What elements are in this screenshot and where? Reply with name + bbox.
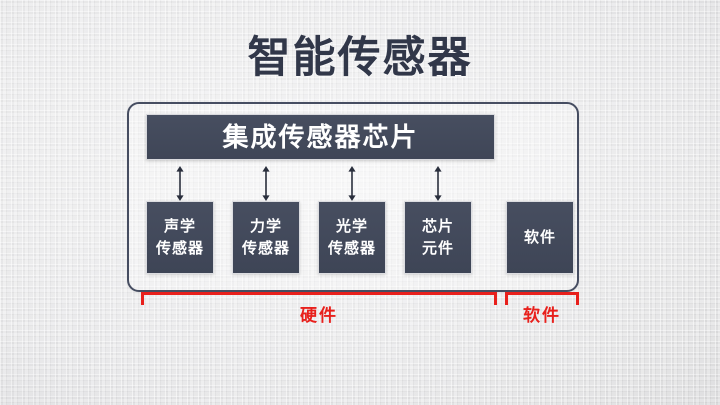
bracket-label-hardware: 硬件 [141, 306, 497, 326]
bracket-hardware [141, 292, 497, 305]
component-label-line: 软件 [524, 227, 556, 248]
component-box-software: 软件 [506, 201, 574, 274]
component-label-line: 传感器 [156, 238, 204, 259]
component-label-line: 力学 [250, 216, 282, 237]
component-box-optical-sensor: 光学传感器 [318, 201, 386, 274]
bracket-software [505, 292, 579, 305]
bracket-label-software: 软件 [505, 306, 579, 326]
slide-canvas: 智能传感器 集成传感器芯片 声学传感器力学传感器光学传感器芯片元件软件 硬件软件 [0, 0, 720, 405]
double-arrow-icon [260, 166, 272, 201]
component-label-line: 传感器 [242, 238, 290, 259]
component-label-line: 元件 [422, 238, 454, 259]
component-label-line: 传感器 [328, 238, 376, 259]
component-box-mechanical-sensor: 力学传感器 [232, 201, 300, 274]
component-label-line: 光学 [336, 216, 368, 237]
component-box-chip-element: 芯片元件 [404, 201, 472, 274]
double-arrow-icon [346, 166, 358, 201]
double-arrow-icon [174, 166, 186, 201]
component-box-acoustic-sensor: 声学传感器 [146, 201, 214, 274]
component-label-line: 芯片 [422, 216, 454, 237]
double-arrow-icon [432, 166, 444, 201]
integrated-sensor-chip-header: 集成传感器芯片 [146, 114, 495, 160]
page-title: 智能传感器 [0, 34, 720, 83]
integrated-sensor-chip-label: 集成传感器芯片 [222, 124, 418, 150]
component-label-line: 声学 [164, 216, 196, 237]
